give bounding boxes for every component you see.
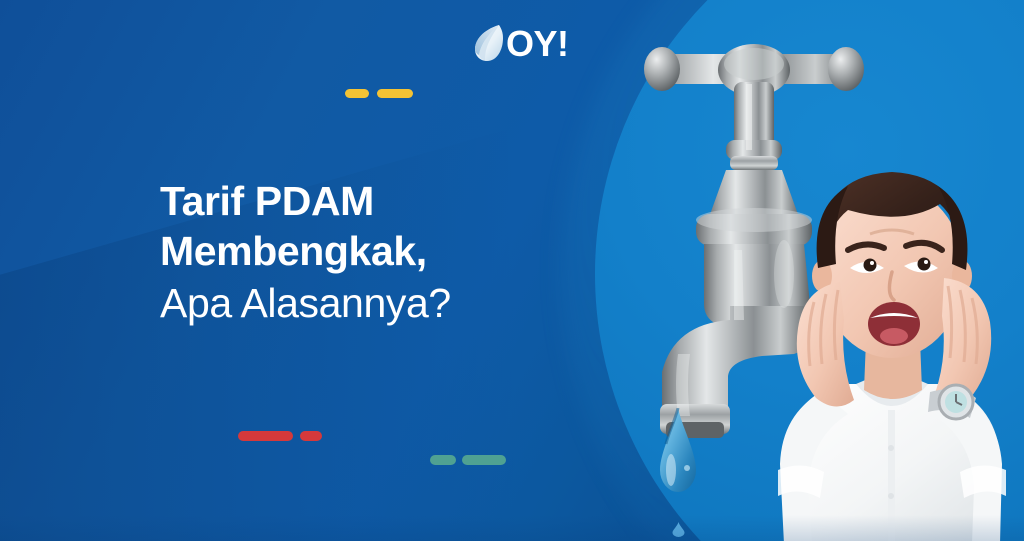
water-droplet-small-icon <box>672 522 685 537</box>
decor-dash-yellow-long <box>377 89 413 98</box>
decor-dash-red-short <box>300 431 322 441</box>
decor-dash-green-long <box>462 455 506 465</box>
decor-dash-yellow-short <box>345 89 369 98</box>
person-photo <box>744 152 1024 541</box>
decor-dash-green-short <box>430 455 456 465</box>
headline-line-1: Tarif PDAM <box>160 176 590 226</box>
headline-line-2: Membengkak, <box>160 226 590 276</box>
headline-block: Tarif PDAM Membengkak, Apa Alasannya? <box>160 176 590 328</box>
oy-leaf-droplet-logo-icon <box>469 22 507 66</box>
decor-dash-red-long <box>238 431 293 441</box>
brand-logo[interactable]: OY! <box>469 22 569 66</box>
promo-banner: OY! Tarif PDAM Membengkak, Apa Alasannya… <box>0 0 1024 541</box>
headline-line-3: Apa Alasannya? <box>160 278 590 328</box>
brand-wordmark: OY! <box>506 25 569 63</box>
water-droplet-icon <box>654 408 702 504</box>
